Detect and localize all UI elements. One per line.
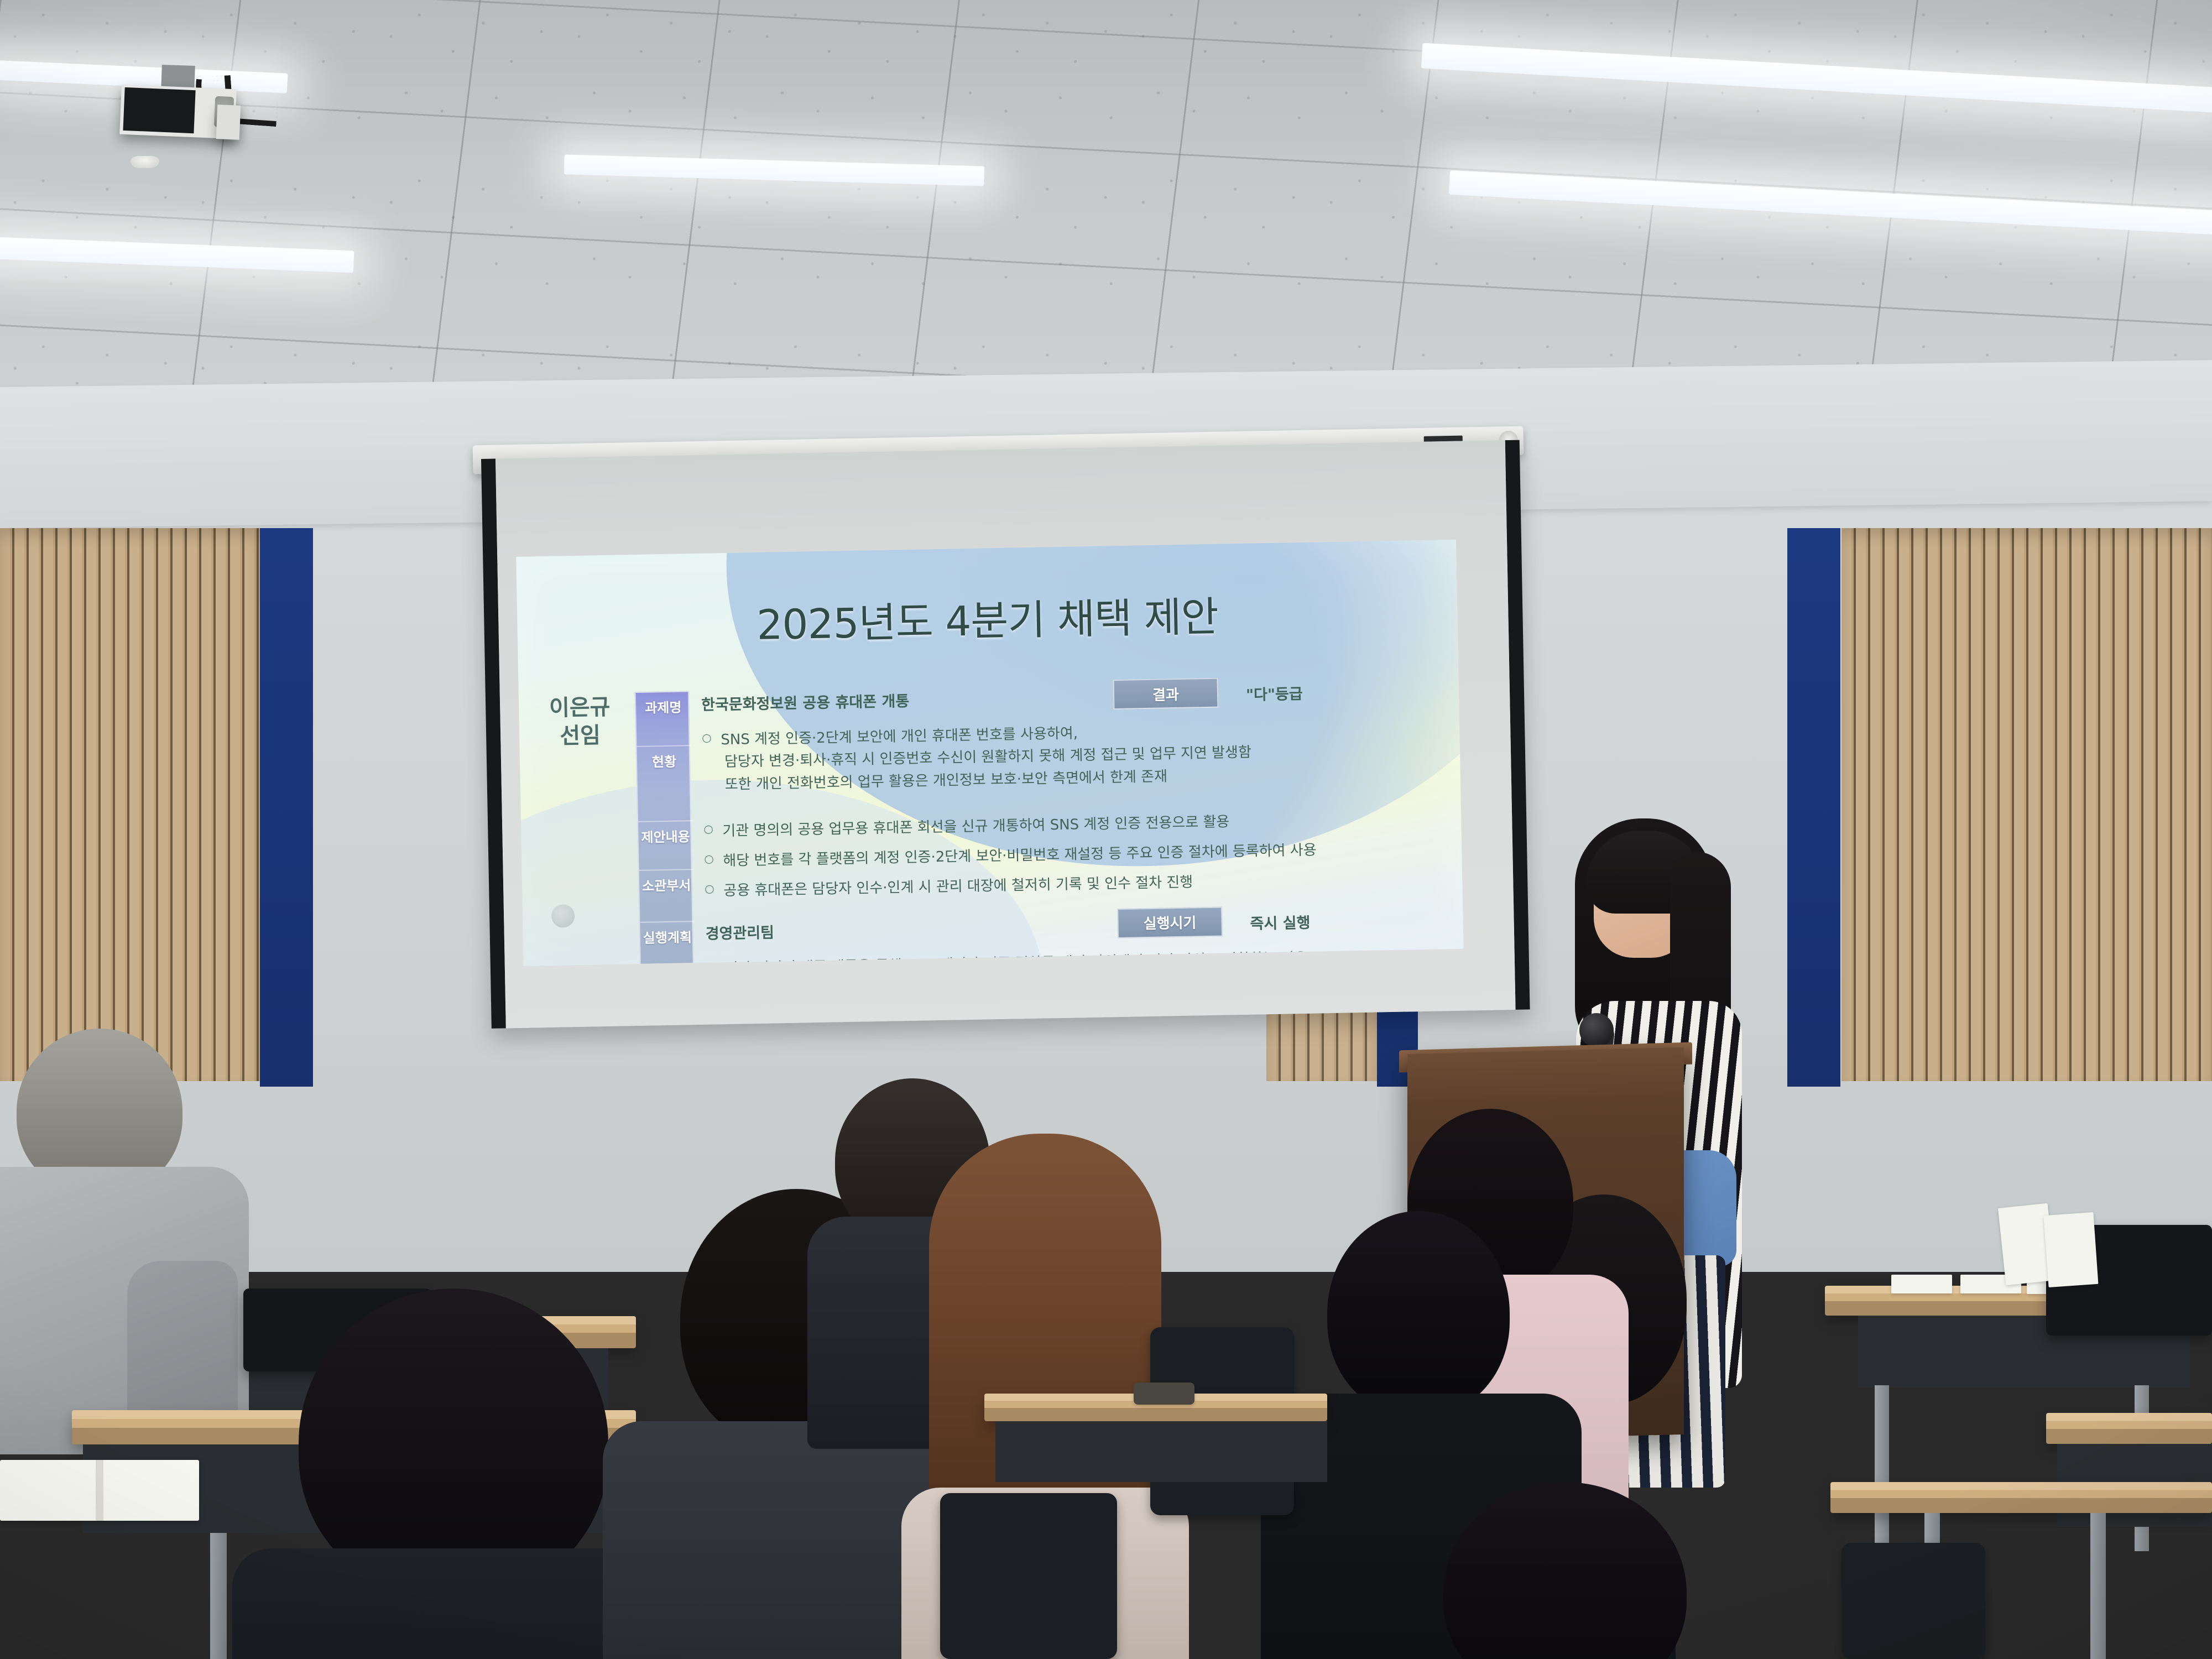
status-bullet: SNS 계정 인증·2단계 보안에 개인 휴대폰 번호를 사용하여, 담당자 변… (702, 716, 1422, 796)
wall-accent-stripe (1787, 528, 1840, 1087)
desk (1830, 1482, 2212, 1513)
slide-table-rail: 과제명 현황 제안내용 소관부서 실행계획 (635, 691, 694, 966)
presenter-name-text: 이은규 (530, 693, 630, 723)
acoustic-slat-panel (0, 528, 260, 1081)
handout-paper (1891, 1275, 1952, 1293)
attendee-head (1443, 1482, 1687, 1659)
slide-presenter-name: 이은규 선임 (530, 693, 630, 752)
proposal-bullet: 기관 명의의 공용 업무용 휴대폰 회선을 신규 개통하여 SNS 계정 인증 … (703, 807, 1423, 843)
row-label-status: 현황 (637, 750, 692, 771)
slide-table-body: 한국문화정보원 공용 휴대폰 개통 결과 "다"등급 SNS 계정 인증·2단계… (701, 677, 1427, 966)
proposal-text: 해당 번호를 각 플랫폼의 계정 인증·2단계 보안·비밀번호 재설정 등 주요… (723, 842, 1317, 870)
chair[interactable] (940, 1493, 1117, 1659)
projection-screen: 2025년도 4분기 채택 제안 이은규 선임 과제명 현황 제안내용 소관부서… (481, 440, 1530, 1029)
proposal-bullet: 해당 번호를 각 플랫폼의 계정 인증·2단계 보안·비밀번호 재설정 등 주요… (704, 837, 1423, 873)
department-value: 경영관리팀 (705, 920, 774, 943)
lecture-room-photo: 2025년도 4분기 채택 제안 이은규 선임 과제명 현황 제안내용 소관부서… (0, 0, 2212, 1659)
acoustic-slat-panel (1841, 528, 2212, 1081)
task-name-value: 한국문화정보원 공용 휴대폰 개통 (701, 689, 910, 714)
attendee-head (1327, 1211, 1510, 1416)
row-label-department: 소관부서 (639, 874, 694, 895)
row-label-task: 과제명 (636, 696, 691, 717)
timing-value: 즉시 실행 (1250, 910, 1310, 933)
desk-shelf (995, 1421, 1327, 1482)
desk-leg (2090, 1513, 2106, 1659)
desk-leg (1875, 1385, 1889, 1551)
presenter-rank-text: 선임 (530, 721, 630, 751)
eyeglasses-icon (1134, 1383, 1194, 1405)
notebook (0, 1460, 199, 1521)
desk (2046, 1413, 2212, 1444)
projector-vent (123, 87, 195, 133)
status-line-1: SNS 계정 인증·2단계 보안에 개인 휴대폰 번호를 사용하여, (721, 725, 1078, 748)
result-badge: 결과 (1113, 678, 1219, 709)
timing-badge: 실행시기 (1117, 906, 1223, 938)
wall-accent-stripe (260, 528, 313, 1087)
document-stand (2044, 1212, 2099, 1287)
result-grade-value: "다"등급 (1246, 682, 1303, 705)
microphone-head-icon (1579, 1013, 1614, 1047)
attendee-front-right (1410, 1482, 1720, 1659)
projected-slide: 2025년도 4분기 채택 제안 이은규 선임 과제명 현황 제안내용 소관부서… (516, 540, 1463, 966)
chair[interactable] (1841, 1543, 1985, 1659)
row-label-proposal: 제안내용 (638, 826, 693, 846)
proposal-text: 기관 명의의 공용 업무용 휴대폰 회선을 신규 개통하여 SNS 계정 인증 … (722, 813, 1229, 839)
smoke-detector-icon (131, 156, 159, 168)
row-label-plan: 실행계획 (640, 926, 695, 947)
projector-body-side (216, 105, 241, 140)
attendee-front-left (265, 1288, 641, 1659)
